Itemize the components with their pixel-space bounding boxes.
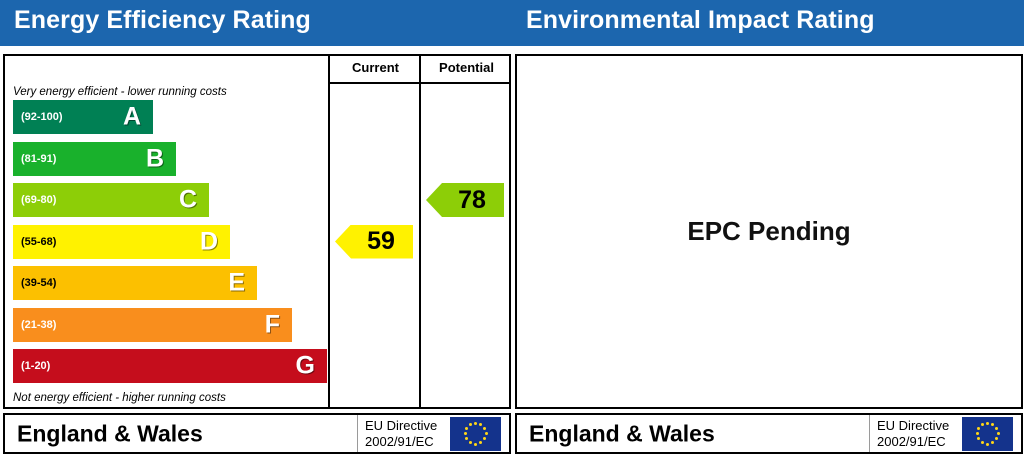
energy-efficiency-chart: Current Potential Very energy efficient … <box>3 54 511 409</box>
eu-star-icon <box>976 432 979 435</box>
eu-star-icon <box>986 422 989 425</box>
column-header-potential: Potential <box>421 60 512 75</box>
band-row-g: (1-20) G <box>13 349 327 383</box>
footer-directive-left: EU Directive 2002/91/EC <box>365 417 437 450</box>
band-range-g: (1-20) <box>21 360 50 372</box>
footer-directive-line2-right: 2002/91/EC <box>877 434 949 450</box>
column-header-underline <box>328 82 511 84</box>
current-rating-arrow: 59 <box>335 225 413 259</box>
environmental-impact-footer: England & Wales EU Directive 2002/91/EC <box>515 413 1023 454</box>
caption-not-efficient: Not energy efficient - higher running co… <box>13 392 226 404</box>
band-row-b: (81-91) B <box>13 142 176 176</box>
eu-star-icon <box>483 437 486 440</box>
eu-star-icon <box>483 427 486 430</box>
footer-region-left: England & Wales <box>17 420 203 447</box>
eu-star-icon <box>469 423 472 426</box>
band-letter-c: C <box>179 188 197 213</box>
eu-star-icon <box>986 443 989 446</box>
eu-star-icon <box>991 441 994 444</box>
band-letter-d: D <box>200 229 218 254</box>
energy-efficiency-header: Energy Efficiency Rating <box>0 0 512 46</box>
eu-star-icon <box>977 437 980 440</box>
eu-star-icon <box>464 432 467 435</box>
band-letter-b: B <box>146 146 164 171</box>
band-row-d: (55-68) D <box>13 225 230 259</box>
eu-star-icon <box>485 432 488 435</box>
footer-directive-line1-left: EU Directive <box>365 417 437 433</box>
eu-star-icon <box>465 427 468 430</box>
eu-star-icon <box>479 441 482 444</box>
environmental-impact-header: Environmental Impact Rating <box>512 0 1024 46</box>
eu-star-icon <box>981 441 984 444</box>
band-row-c: (69-80) C <box>13 183 209 217</box>
environmental-impact-panel: Environmental Impact Rating EPC Pending … <box>512 0 1024 457</box>
eu-star-icon <box>474 422 477 425</box>
band-letter-f: F <box>265 312 280 337</box>
eu-flag-icon-left <box>450 417 501 451</box>
band-range-b: (81-91) <box>21 153 56 165</box>
band-range-a: (92-100) <box>21 111 63 123</box>
footer-divider-left <box>357 415 358 452</box>
energy-efficiency-footer: England & Wales EU Directive 2002/91/EC <box>3 413 511 454</box>
band-range-e: (39-54) <box>21 277 56 289</box>
band-range-c: (69-80) <box>21 194 56 206</box>
environmental-impact-chart: EPC Pending <box>515 54 1023 409</box>
footer-directive-line2-left: 2002/91/EC <box>365 434 437 450</box>
eu-star-icon <box>977 427 980 430</box>
eu-star-icon <box>995 427 998 430</box>
energy-efficiency-title: Energy Efficiency Rating <box>14 6 311 35</box>
band-row-a: (92-100) A <box>13 100 153 134</box>
eu-star-icon <box>991 423 994 426</box>
column-divider-current <box>328 56 330 407</box>
footer-region-right: England & Wales <box>529 420 715 447</box>
epc-pending-text: EPC Pending <box>687 216 850 247</box>
potential-rating-arrow: 78 <box>426 183 504 217</box>
band-letter-a: A <box>123 105 141 130</box>
energy-efficiency-panel: Energy Efficiency Rating Current Potenti… <box>0 0 512 457</box>
eu-star-icon <box>995 437 998 440</box>
eu-star-icon <box>997 432 1000 435</box>
caption-very-efficient: Very energy efficient - lower running co… <box>13 86 227 98</box>
footer-directive-line1-right: EU Directive <box>877 417 949 433</box>
band-row-f: (21-38) F <box>13 308 292 342</box>
band-range-f: (21-38) <box>21 319 56 331</box>
environmental-impact-title: Environmental Impact Rating <box>526 6 875 35</box>
band-range-d: (55-68) <box>21 236 56 248</box>
band-letter-e: E <box>228 271 245 296</box>
footer-divider-right <box>869 415 870 452</box>
column-divider-potential <box>419 56 421 407</box>
column-header-current: Current <box>330 60 421 75</box>
epc-graph-page: Energy Efficiency Rating Current Potenti… <box>0 0 1024 457</box>
band-row-e: (39-54) E <box>13 266 257 300</box>
band-letter-g: G <box>296 354 315 379</box>
eu-star-icon <box>465 437 468 440</box>
eu-flag-icon-right <box>962 417 1013 451</box>
eu-star-icon <box>981 423 984 426</box>
footer-directive-right: EU Directive 2002/91/EC <box>877 417 949 450</box>
eu-star-icon <box>479 423 482 426</box>
eu-star-icon <box>469 441 472 444</box>
eu-star-icon <box>474 443 477 446</box>
